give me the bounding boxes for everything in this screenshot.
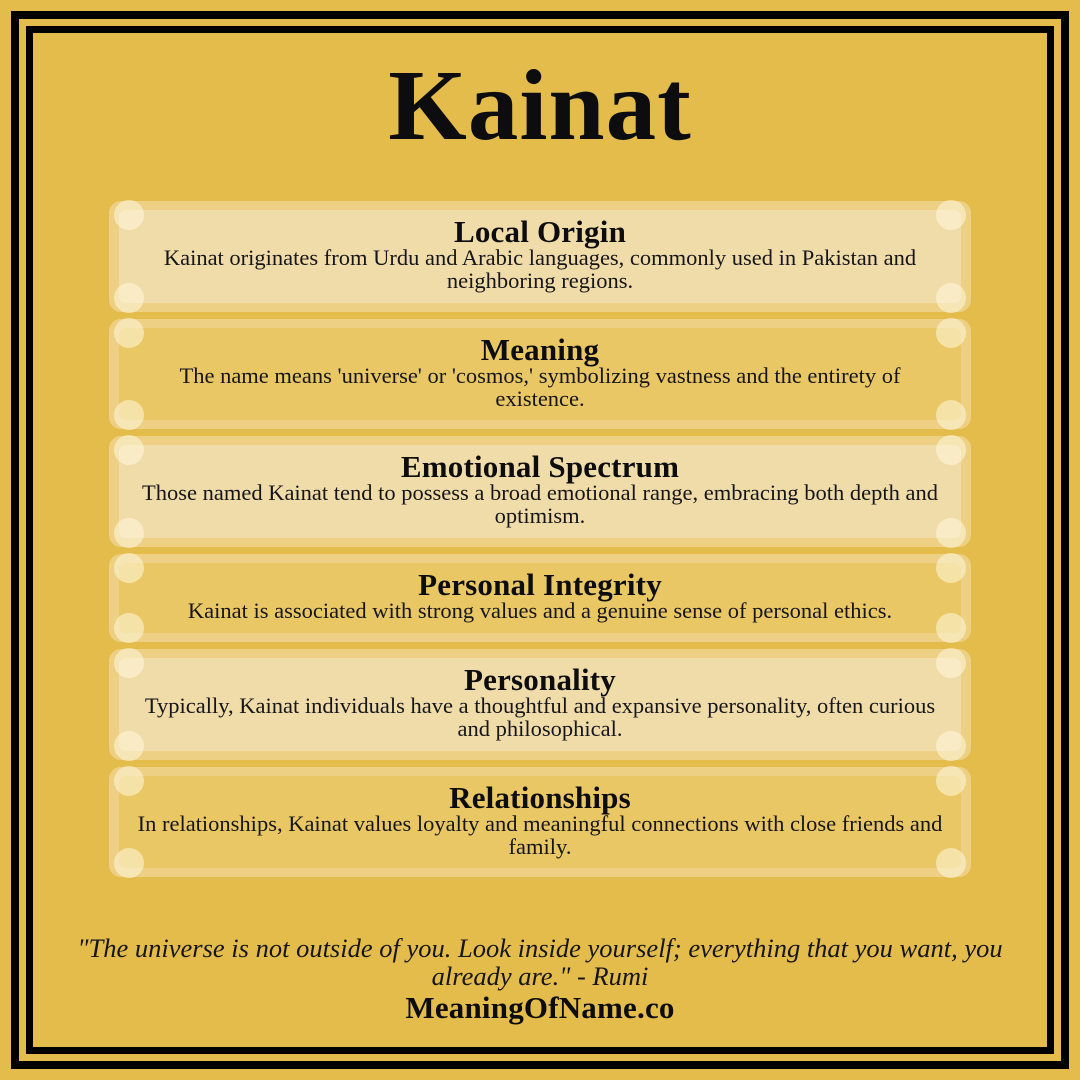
attribute-card-body: Kainat originates from Urdu and Arabic l… [133, 247, 947, 293]
quote-text: "The universe is not outside of you. Loo… [47, 934, 1033, 990]
footer: "The universe is not outside of you. Loo… [33, 934, 1047, 1047]
attribute-card: Local OriginKainat originates from Urdu … [109, 201, 971, 312]
frame-inner-border: Kainat Local OriginKainat originates fro… [26, 26, 1054, 1054]
attribute-card-panel: Local OriginKainat originates from Urdu … [119, 210, 961, 303]
attribute-card-body: In relationships, Kainat values loyalty … [133, 813, 947, 859]
attribute-card-title: Personality [133, 664, 947, 697]
poster: Kainat Local OriginKainat originates fro… [0, 0, 1080, 1080]
attribute-card: MeaningThe name means 'universe' or 'cos… [109, 319, 971, 430]
attribute-card-body: The name means 'universe' or 'cosmos,' s… [133, 365, 947, 411]
attribute-card-panel: RelationshipsIn relationships, Kainat va… [119, 776, 961, 869]
attribute-card-panel: MeaningThe name means 'universe' or 'cos… [119, 328, 961, 421]
attribute-card: Personal IntegrityKainat is associated w… [109, 554, 971, 642]
attribute-card-title: Local Origin [133, 216, 947, 249]
attribute-card-list: Local OriginKainat originates from Urdu … [109, 201, 971, 877]
attribute-card-body: Typically, Kainat individuals have a tho… [133, 695, 947, 741]
attribute-card-body: Those named Kainat tend to possess a bro… [133, 482, 947, 528]
attribute-card: Emotional SpectrumThose named Kainat ten… [109, 436, 971, 547]
attribute-card: PersonalityTypically, Kainat individuals… [109, 649, 971, 760]
attribute-card-panel: Emotional SpectrumThose named Kainat ten… [119, 445, 961, 538]
attribute-card-panel: Personal IntegrityKainat is associated w… [119, 563, 961, 633]
attribute-card-panel: PersonalityTypically, Kainat individuals… [119, 658, 961, 751]
attribute-card-title: Relationships [133, 782, 947, 815]
frame-outer-border: Kainat Local OriginKainat originates fro… [11, 11, 1069, 1069]
brand-watermark: MeaningOfName.co [47, 991, 1033, 1025]
attribute-card: RelationshipsIn relationships, Kainat va… [109, 767, 971, 878]
attribute-card-body: Kainat is associated with strong values … [133, 600, 947, 623]
page-title: Kainat [33, 55, 1047, 156]
attribute-card-title: Meaning [133, 334, 947, 367]
